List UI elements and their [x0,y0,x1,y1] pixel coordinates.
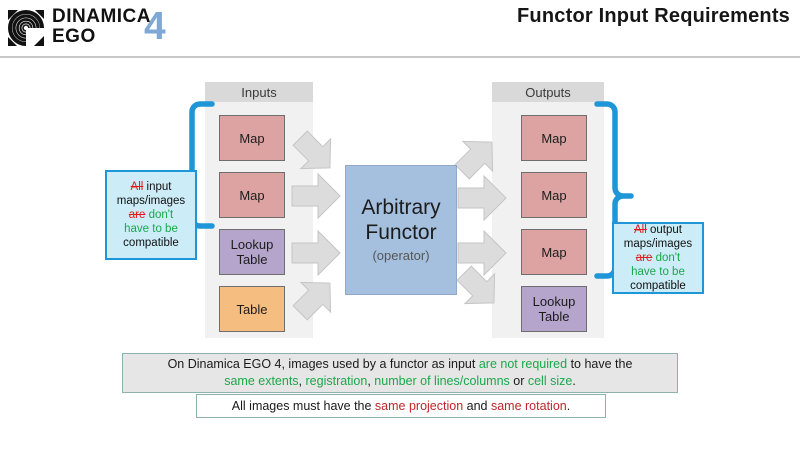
callout-inputs-text: All input maps/images are don't have to … [117,180,185,250]
input-box-map-2[interactable]: Map [219,172,285,218]
note1-l2-s4: . [572,374,575,388]
note1-line1: On Dinamica EGO 4, images used by a func… [168,356,633,373]
header-divider [0,56,800,58]
output-box-label-line2: Table [538,309,569,324]
note1-l1-green: are not required [479,357,567,371]
callout-inputs: All input maps/images are don't have to … [105,170,197,260]
brand-version: 4 [144,6,166,48]
note1-l2-g2: registration [306,374,368,388]
note1-l1-a: On Dinamica EGO 4, images used by a func… [168,357,479,371]
input-box-map-1[interactable]: Map [219,115,285,161]
callout-right-green2: have to be [631,266,685,278]
note2-c: . [567,399,570,413]
callout-right-t1: output [647,224,682,236]
note2-b: and [463,399,491,413]
note2-a: All images must have the [232,399,375,413]
callout-outputs-text: All output maps/images are don't have to… [624,223,692,293]
functor-title-line2: Functor [365,220,436,245]
output-box-label: Map [541,131,566,146]
callout-right-t2: maps/images [624,238,692,250]
arbitrary-functor-node[interactable]: Arbitrary Functor (operator) [345,165,457,295]
note-input-requirements: On Dinamica EGO 4, images used by a func… [122,353,678,393]
brand-logo: DINAMICA EGO 4 [4,4,179,52]
callout-left-strike-all: All [131,181,144,193]
note2-red2: same rotation [491,399,567,413]
note1-l1-b: to have the [567,357,632,371]
note1-l2-g3: number of lines/columns [374,374,509,388]
input-box-label: Map [239,188,264,203]
note1-l2-s1: , [299,374,306,388]
callout-left-green2: have to be [124,223,178,235]
output-box-label: Map [541,245,566,260]
output-box-map-1[interactable]: Map [521,115,587,161]
input-box-label-line2: Table [236,252,267,267]
callout-left-strike-are: are [129,209,146,221]
callout-outputs: All output maps/images are don't have to… [612,222,704,294]
callout-left-t1: input [143,181,171,193]
output-box-label-line1: Lookup [533,294,576,309]
note1-l2-s3: or [510,374,528,388]
callout-right-green1: don't [652,252,680,264]
page-title: Functor Input Requirements [517,5,790,28]
input-box-label-line1: Lookup [231,237,274,252]
brand-name-line2: EGO [52,27,151,47]
note1-l2-g1: same extents [224,374,298,388]
inputs-panel-header: Inputs [205,82,313,102]
note-projection-rotation: All images must have the same projection… [196,394,606,418]
input-box-table[interactable]: Table [219,286,285,332]
input-box-label: Table [236,302,267,317]
note2-line: All images must have the same projection… [232,398,570,415]
brand-wordmark: DINAMICA EGO [52,7,151,47]
callout-left-t2: maps/images [117,195,185,207]
callout-right-t3: compatible [630,280,686,292]
output-box-label: Map [541,188,566,203]
note1-l2-g4: cell size [528,374,572,388]
callout-right-strike-are: are [636,252,653,264]
note1-line2: same extents, registration, number of li… [224,373,576,390]
slide-canvas: DINAMICA EGO 4 Functor Input Requirement… [0,0,800,450]
output-box-map-2[interactable]: Map [521,172,587,218]
callout-left-green1: don't [145,209,173,221]
output-box-map-3[interactable]: Map [521,229,587,275]
outputs-panel-header: Outputs [492,82,604,102]
output-box-lookup-table[interactable]: Lookup Table [521,286,587,332]
note2-red1: same projection [375,399,463,413]
dinamica-spiral-logo-icon [4,6,48,50]
functor-subtitle: (operator) [372,247,429,265]
callout-right-strike-all: All [634,224,647,236]
input-box-lookup-table[interactable]: Lookup Table [219,229,285,275]
callout-left-t3: compatible [123,237,179,249]
functor-title-line1: Arbitrary [361,195,440,220]
brand-name-line1: DINAMICA [52,7,151,27]
input-box-label: Map [239,131,264,146]
